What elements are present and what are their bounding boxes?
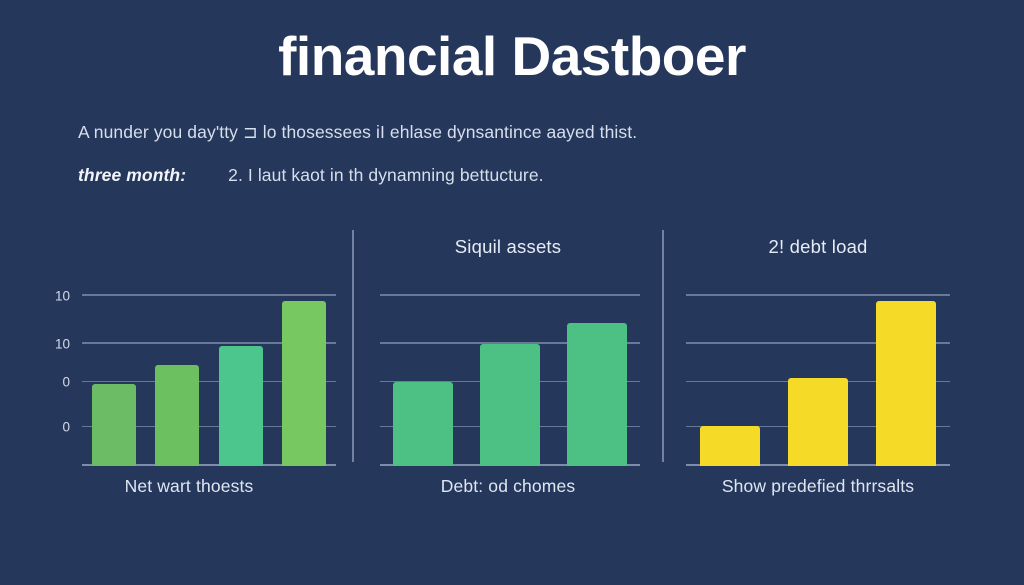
- dashboard-root: financial Dastboer A nunder you day'tty …: [0, 0, 1024, 585]
- panel-divider-1: [352, 230, 354, 462]
- page-title: financial Dastboer: [0, 28, 1024, 86]
- plot-area-net-worth: [30, 280, 348, 466]
- chart-panel-liquid-assets-title: Siquil assets: [358, 236, 658, 258]
- bar[interactable]: [92, 384, 136, 466]
- bar[interactable]: [480, 344, 540, 466]
- chart-panel-debt-load-title: 2! debt load: [668, 236, 968, 258]
- bar-group-net-worth: [82, 280, 336, 466]
- bar[interactable]: [393, 382, 453, 466]
- chart-caption-debt-load: Show predefied thrrsalts: [668, 476, 968, 497]
- subtitle-line-2: three month:2. I laut kaot in th dynamni…: [78, 165, 544, 186]
- panel-divider-2: [662, 230, 664, 462]
- plot-area-liquid-assets: [358, 280, 658, 466]
- charts-region: 101000 Net wart thoests Siquil assets De…: [0, 218, 1024, 518]
- bar[interactable]: [788, 378, 848, 466]
- bar[interactable]: [219, 346, 263, 466]
- bar[interactable]: [700, 426, 760, 466]
- bar[interactable]: [155, 365, 199, 466]
- subtitle-line-1: A nunder you day'tty ⊐ lo thosessees iI …: [78, 122, 637, 143]
- subtitle-lead: three month:: [78, 165, 186, 185]
- chart-caption-liquid-assets: Debt: od chomes: [358, 476, 658, 497]
- plot-area-debt-load: [668, 280, 968, 466]
- chart-caption-net-worth: Net wart thoests: [30, 476, 348, 497]
- chart-panel-net-worth: 101000 Net wart thoests: [30, 218, 348, 518]
- subtitle-rest: 2. I laut kaot in th dynamning bettuctur…: [228, 165, 544, 185]
- bar-group-liquid-assets: [380, 280, 640, 466]
- chart-panel-liquid-assets: Siquil assets Debt: od chomes: [358, 218, 658, 518]
- bar[interactable]: [876, 301, 936, 466]
- bar[interactable]: [567, 323, 627, 466]
- bar-group-debt-load: [686, 280, 950, 466]
- chart-panel-debt-load: 2! debt load Show predefied thrrsalts: [668, 218, 968, 518]
- bar[interactable]: [282, 301, 326, 466]
